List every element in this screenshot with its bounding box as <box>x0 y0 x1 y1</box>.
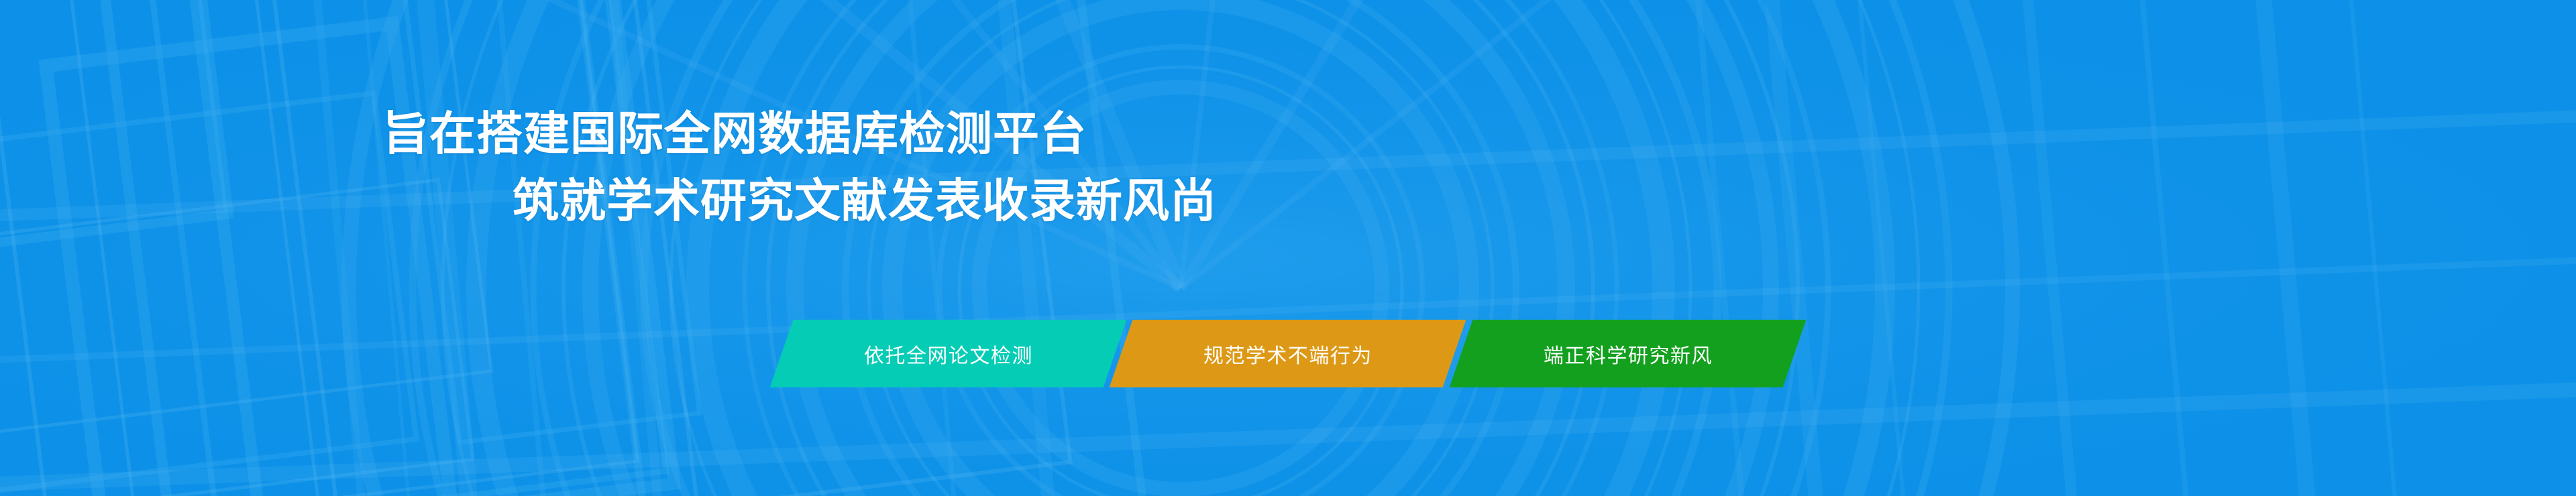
background-pattern <box>0 0 2576 496</box>
feature-badge-strip: 依托全网论文检测 规范学术不端行为 端正科学研究新风 <box>0 320 2576 387</box>
badge-misconduct-regulation-label: 规范学术不端行为 <box>1203 339 1373 369</box>
headline-line-2: 筑就学术研究文献发表收录新风尚 <box>382 168 2194 235</box>
badge-research-ethos-label: 端正科学研究新风 <box>1543 339 1712 369</box>
promo-banner: 旨在搭建国际全网数据库检测平台 筑就学术研究文献发表收录新风尚 依托全网论文检测… <box>0 0 2576 496</box>
badge-misconduct-regulation[interactable]: 规范学术不端行为 <box>1110 320 1466 387</box>
badge-paper-detection-label: 依托全网论文检测 <box>864 339 1033 369</box>
badge-paper-detection[interactable]: 依托全网论文检测 <box>770 320 1127 387</box>
badge-research-ethos[interactable]: 端正科学研究新风 <box>1449 320 1806 387</box>
headline-line-1: 旨在搭建国际全网数据库检测平台 <box>382 101 2194 168</box>
headline-block: 旨在搭建国际全网数据库检测平台 筑就学术研究文献发表收录新风尚 <box>0 101 2576 235</box>
